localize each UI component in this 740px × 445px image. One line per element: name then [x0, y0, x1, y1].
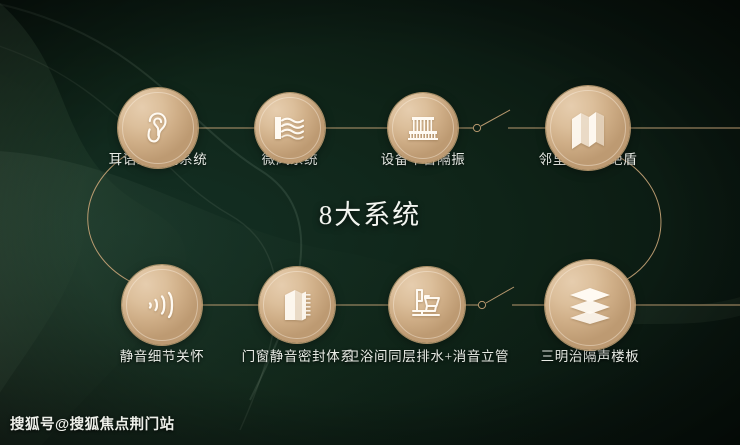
- wall-panel-icon: [568, 107, 608, 149]
- node-label: 卫浴间同层排水+消音立管: [346, 345, 509, 365]
- disc-neighbor-noise-shield[interactable]: [546, 86, 630, 170]
- disc-sandwich-acoustic-slab[interactable]: [545, 260, 635, 350]
- switch-node-bottom: [478, 301, 485, 308]
- node-bathroom-same-floor-drainage[interactable]: 卫浴间同层排水+消音立管: [350, 345, 505, 375]
- disc-breeze-system[interactable]: [255, 93, 325, 163]
- ear-icon: [141, 109, 175, 147]
- disc-ear-whisper-ac[interactable]: [118, 88, 198, 168]
- damped-platform-icon: [405, 113, 441, 143]
- switch-lever-bottom: [486, 287, 514, 303]
- toilet-drain-icon: [408, 287, 446, 323]
- air-vent-icon: [273, 113, 307, 143]
- disc-quiet-details-care[interactable]: [122, 265, 202, 345]
- page-title: 8大系统: [0, 193, 740, 232]
- disc-window-seal-system[interactable]: [259, 267, 335, 343]
- watermark: 搜狐号@搜狐焦点荆门站: [10, 413, 175, 434]
- sound-waves-icon: [147, 288, 177, 322]
- disc-equipment-platform-isolation[interactable]: [388, 93, 458, 163]
- slide-canvas: 耳语级空调系统 微风系统 设备平台隔振: [0, 0, 740, 445]
- sandwich-slab-icon: [567, 286, 613, 324]
- window-seal-icon: [280, 286, 314, 324]
- node-quiet-details-care[interactable]: 静音细节关怀: [102, 345, 222, 375]
- node-label: 门窗静音密封体系: [242, 345, 355, 365]
- node-label: 静音细节关怀: [120, 345, 205, 365]
- disc-bathroom-same-floor-drainage[interactable]: [389, 267, 465, 343]
